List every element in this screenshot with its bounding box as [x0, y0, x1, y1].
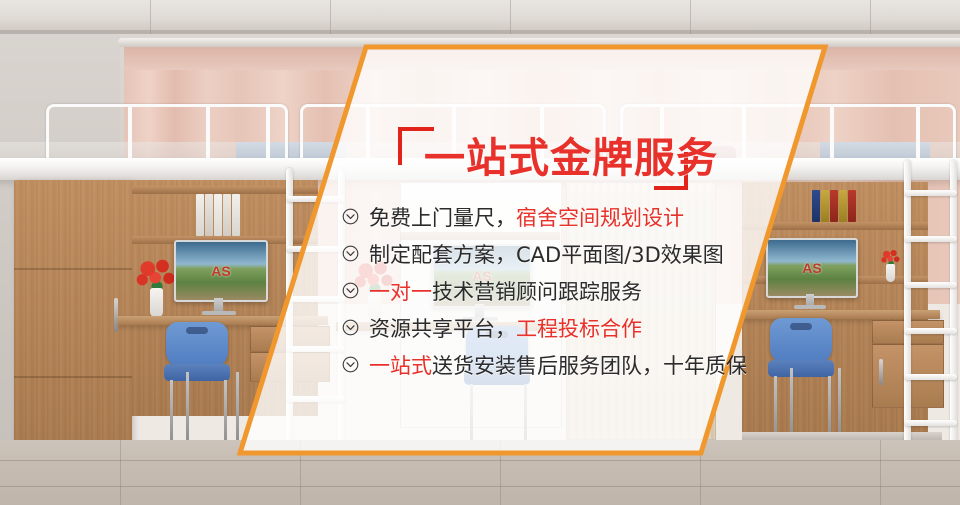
- chevron-down-circle-icon: [342, 208, 359, 225]
- segment-highlight: 一站式: [369, 354, 432, 378]
- list-item-text: 制定配套方案，CAD平面图/3D效果图: [369, 237, 724, 273]
- feature-list: 免费上门量尺，宿舍空间规划设计 制定配套方案，CAD平面图/3D效果图: [342, 200, 772, 385]
- segment-plain: 制定配套方案，CAD平面图/3D效果图: [369, 243, 724, 267]
- segment-highlight: 一对一: [369, 280, 432, 304]
- list-item-text: 资源共享平台，工程投标合作: [369, 311, 642, 347]
- segment-plain: 技术营销顾问跟踪服务: [432, 280, 642, 304]
- page-title: 一站式金牌服务: [424, 124, 718, 184]
- list-item: 免费上门量尺，宿舍空间规划设计: [342, 200, 772, 236]
- list-item: 一站式送货安装售后服务团队，十年质保: [342, 348, 772, 384]
- list-item: 资源共享平台，工程投标合作: [342, 311, 772, 347]
- chevron-down-circle-icon: [342, 356, 359, 373]
- chevron-down-circle-icon: [342, 245, 359, 262]
- list-item-text: 一站式送货安装售后服务团队，十年质保: [369, 348, 747, 384]
- segment-highlight: 宿舍空间规划设计: [516, 206, 684, 230]
- chevron-down-circle-icon: [342, 282, 359, 299]
- segment-plain: 免费上门量尺，: [369, 206, 516, 230]
- segment-highlight: 工程投标合作: [516, 317, 642, 341]
- callout-content: 一站式金牌服务 免费上门量尺，宿舍空间规划设计: [0, 0, 960, 505]
- segment-plain: 送货安装售后服务团队，十年质保: [432, 354, 747, 378]
- title-block: 一站式金牌服务: [396, 118, 686, 190]
- list-item: 制定配套方案，CAD平面图/3D效果图: [342, 237, 772, 273]
- segment-plain: 资源共享平台，: [369, 317, 516, 341]
- list-item: 一对一技术营销顾问跟踪服务: [342, 274, 772, 310]
- promo-banner: AS AS: [0, 0, 960, 505]
- list-item-text: 免费上门量尺，宿舍空间规划设计: [369, 200, 684, 236]
- chevron-down-circle-icon: [342, 319, 359, 336]
- list-item-text: 一对一技术营销顾问跟踪服务: [369, 274, 642, 310]
